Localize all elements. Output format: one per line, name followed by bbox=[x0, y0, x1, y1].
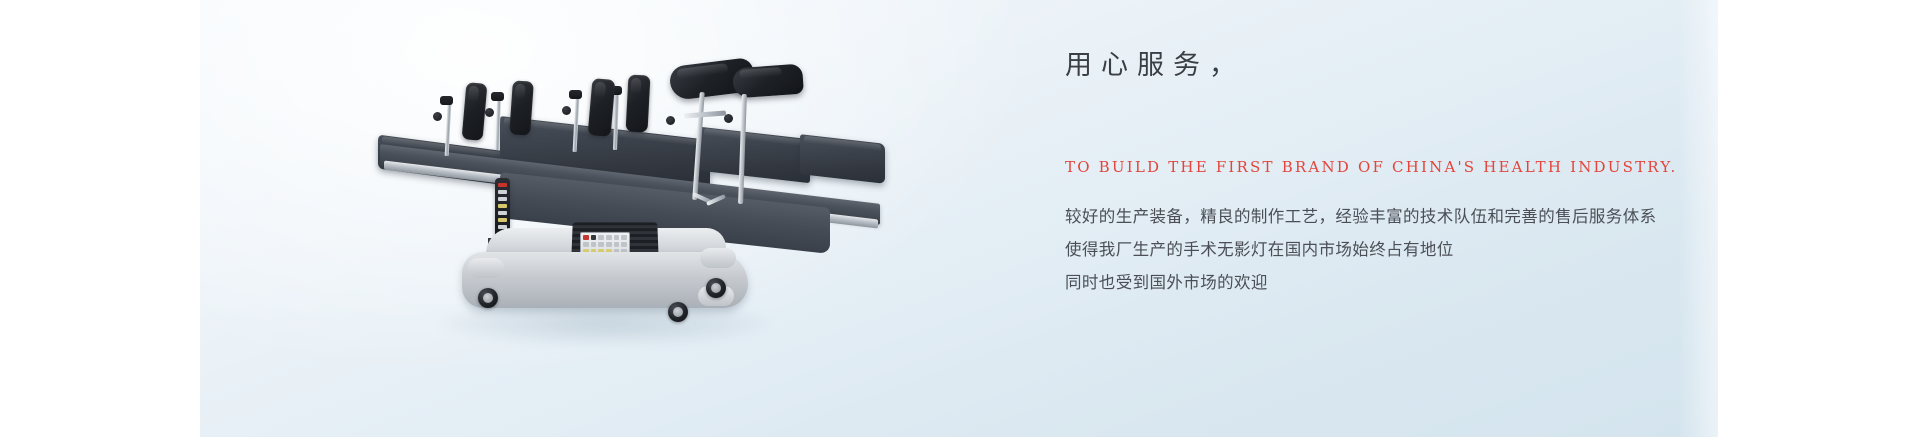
control-key bbox=[621, 242, 627, 247]
leg-rest-crossbar bbox=[684, 111, 726, 119]
pendant-button bbox=[498, 211, 507, 215]
clamp-knob bbox=[433, 112, 442, 121]
clamp-knob bbox=[485, 108, 494, 117]
banner-copy: 用心服务， TO BUILD THE FIRST BRAND OF CHINA'… bbox=[1065, 0, 1718, 437]
description-line: 同时也受到国外市场的欢迎 bbox=[1065, 266, 1657, 299]
mattress-section-right bbox=[800, 134, 885, 184]
pad-highlight bbox=[515, 84, 526, 100]
control-key bbox=[614, 242, 620, 247]
promo-banner: 用心服务， TO BUILD THE FIRST BRAND OF CHINA'… bbox=[0, 0, 1920, 437]
control-key bbox=[606, 235, 612, 240]
side-support-pad bbox=[626, 74, 651, 132]
pendant-button bbox=[498, 197, 507, 201]
control-key bbox=[591, 242, 597, 247]
leg-rest-knob bbox=[724, 114, 733, 123]
caster-wheel bbox=[706, 278, 726, 298]
banner-panel: 用心服务， TO BUILD THE FIRST BRAND OF CHINA'… bbox=[200, 0, 1718, 437]
control-key bbox=[598, 242, 604, 247]
mattress-highlight bbox=[804, 136, 881, 152]
pendant-button bbox=[498, 183, 507, 187]
control-key-row bbox=[583, 235, 627, 240]
leg-rest-highlight bbox=[677, 63, 728, 79]
control-key bbox=[614, 235, 620, 240]
leg-rest-knob bbox=[666, 116, 675, 125]
pad-clamp bbox=[440, 96, 453, 105]
banner-tagline-english: TO BUILD THE FIRST BRAND OF CHINA'S HEAL… bbox=[1065, 158, 1677, 176]
pad-clamp bbox=[491, 92, 504, 101]
description-line: 较好的生产装备，精良的制作工艺，经验丰富的技术队伍和完善的售后服务体系 bbox=[1065, 200, 1657, 233]
pendant-button bbox=[498, 190, 507, 194]
description-line: 使得我厂生产的手术无影灯在国内市场始终占有地位 bbox=[1065, 233, 1657, 266]
mattress-highlight bbox=[704, 128, 806, 147]
side-support-pad bbox=[509, 80, 534, 135]
base-foot-pad bbox=[700, 248, 736, 268]
banner-headline: 用心服务， bbox=[1065, 48, 1245, 84]
control-key bbox=[591, 235, 597, 240]
leg-rest-highlight bbox=[739, 67, 782, 79]
control-key-row bbox=[583, 242, 627, 247]
pendant-button bbox=[498, 204, 507, 208]
banner-description: 较好的生产装备，精良的制作工艺，经验丰富的技术队伍和完善的售后服务体系 使得我厂… bbox=[1065, 200, 1657, 299]
caster-hub bbox=[711, 283, 721, 293]
base-foot-pad bbox=[468, 258, 504, 278]
pad-highlight bbox=[594, 81, 606, 98]
caster-hub bbox=[483, 293, 493, 303]
caster-wheel bbox=[478, 288, 498, 308]
control-key bbox=[583, 242, 589, 247]
pad-highlight bbox=[468, 85, 479, 102]
control-key bbox=[621, 235, 627, 240]
mattress-section-center-right bbox=[700, 127, 810, 184]
product-image-operating-table bbox=[200, 0, 900, 437]
pad-clamp bbox=[569, 90, 582, 99]
side-support-pad bbox=[462, 82, 488, 141]
control-key bbox=[606, 242, 612, 247]
clamp-knob bbox=[562, 106, 571, 115]
caster-wheel bbox=[668, 302, 688, 322]
control-key bbox=[598, 235, 604, 240]
control-key bbox=[583, 235, 589, 240]
pendant-button bbox=[498, 218, 507, 222]
pad-highlight bbox=[631, 78, 642, 94]
caster-hub bbox=[673, 307, 683, 317]
